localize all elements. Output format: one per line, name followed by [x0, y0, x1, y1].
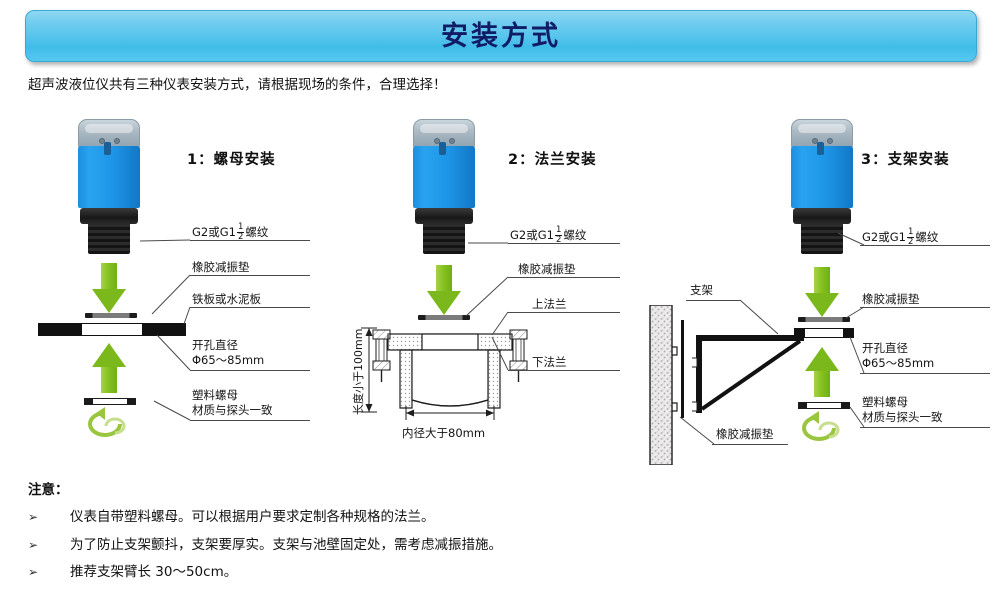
label-plastic-nut-3: 塑料螺母 材质与探头一致 [862, 395, 943, 424]
label-hole-diameter-3: 开孔直径 Φ65～85mm [862, 341, 934, 370]
leader-diagonals-1 [112, 225, 202, 425]
diagram-flange-mount: 2：法兰安装 [330, 115, 630, 465]
label-lower-flange: 下法兰 [532, 355, 567, 370]
device-neck [793, 208, 851, 224]
dimension-length-text: 长度小于100mm [350, 329, 366, 415]
device-body [791, 146, 853, 208]
bullet-icon: ➢ [28, 538, 70, 552]
leader-line-nut-1 [190, 420, 310, 421]
note-text: 仪表自带塑料螺母。可以根据用户要求定制各种规格的法兰。 [70, 505, 435, 525]
label-rubber-pad-3: 橡胶减振垫 [862, 292, 920, 307]
note-text: 为了防止支架颤抖，支架要厚实。支架与池壁固定处，需考虑减振措施。 [70, 533, 502, 553]
page-header-banner: 安装方式 [25, 10, 977, 62]
notes-section: 注意： ➢ 仪表自带塑料螺母。可以根据用户要求定制各种规格的法兰。 ➢ 为了防止… [28, 478, 502, 588]
leader-line-hole-3 [860, 373, 990, 374]
device-body [413, 146, 475, 208]
device-body [78, 146, 140, 208]
panel-2-title: 2：法兰安装 [508, 148, 597, 169]
label-rubber-pad-2: 橡胶减振垫 [518, 262, 576, 277]
leader-diagonals-2 [440, 225, 520, 385]
device-neck [415, 208, 473, 224]
label-wall-rubber-pad: 橡胶减振垫 [716, 427, 774, 442]
leader-line-nut-3 [860, 427, 990, 428]
intro-text: 超声波液位仪共有三种仪表安装方式，请根据现场的条件，合理选择！ [28, 73, 447, 93]
label-bracket: 支架 [690, 283, 713, 298]
concrete-wall [648, 305, 678, 465]
note-text: 推荐支架臂长 30～50cm。 [70, 560, 237, 580]
label-thread-1: G2或G112螺纹 [192, 223, 268, 241]
panel-1-title: 1：螺母安装 [187, 148, 276, 169]
leader-diagonal-wall-pad [678, 415, 718, 447]
notes-title: 注意： [28, 478, 502, 498]
diagram-bracket-mount: 3：支架安装 [648, 115, 998, 465]
dimension-inner-diameter-arrow [400, 405, 500, 421]
leader-line-wall-pad [712, 444, 788, 445]
bullet-icon: ➢ [28, 565, 70, 579]
note-item: ➢ 推荐支架臂长 30～50cm。 [28, 560, 502, 580]
panel-3-title: 3：支架安装 [861, 148, 950, 169]
leader-diagonal-bracket [738, 298, 784, 336]
label-thread-2: G2或G112螺纹 [510, 226, 586, 244]
leader-line-bracket [686, 300, 740, 301]
device-neck [80, 208, 138, 224]
label-plate-1: 铁板或水泥板 [192, 292, 261, 307]
label-rubber-pad-1: 橡胶减振垫 [192, 260, 250, 275]
note-item: ➢ 为了防止支架颤抖，支架要厚实。支架与池壁固定处，需考虑减振措施。 [28, 533, 502, 553]
note-item: ➢ 仪表自带塑料螺母。可以根据用户要求定制各种规格的法兰。 [28, 505, 502, 525]
leader-line-hole-1 [190, 370, 310, 371]
diagram-nut-mount: 1：螺母安装 G2或G1 [22, 115, 322, 465]
label-upper-flange: 上法兰 [532, 297, 567, 312]
page-title: 安装方式 [441, 23, 561, 50]
wall-rubber-pad [681, 320, 684, 418]
label-plastic-nut-1: 塑料螺母 材质与探头一致 [192, 388, 273, 417]
label-thread-3: G2或G112螺纹 [862, 228, 938, 246]
dimension-inner-diameter-text: 内径大于80mm [402, 425, 485, 441]
label-hole-diameter-1: 开孔直径 Φ65～85mm [192, 338, 264, 367]
bullet-icon: ➢ [28, 510, 70, 524]
